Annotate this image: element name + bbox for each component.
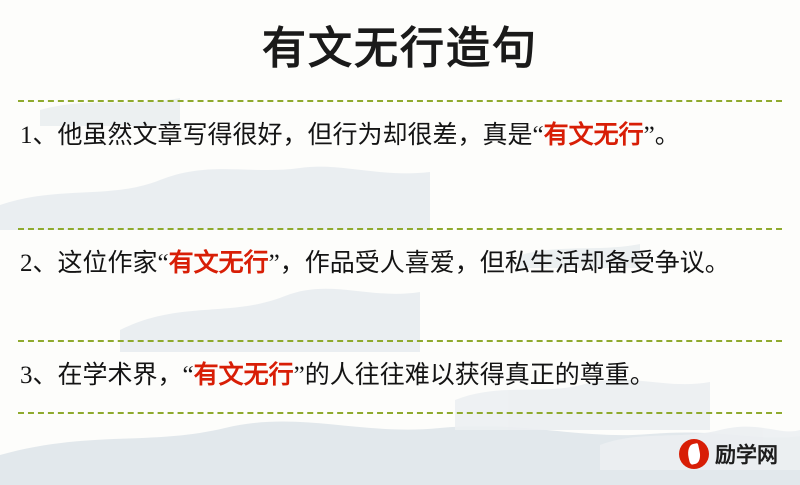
keyword-highlight: 有文无行 (544, 122, 644, 149)
divider-1 (18, 228, 782, 230)
sentence-index: 2、 (20, 250, 58, 277)
sentence-text: 他虽然文章写得很好，但行为却很差，真是“ (58, 122, 544, 149)
sentence-item: 3、在学术界，“有文无行”的人往往难以获得真正的尊重。 (20, 355, 782, 397)
sentence-text: 在学术界，“ (58, 362, 194, 389)
divider-top (18, 100, 782, 102)
sentence-text-tail: ”。 (644, 122, 680, 149)
keyword-highlight: 有文无行 (169, 250, 269, 277)
divider-2 (18, 340, 782, 342)
flame-logo-icon (679, 439, 709, 469)
keyword-highlight: 有文无行 (194, 362, 294, 389)
sentence-index: 3、 (20, 362, 58, 389)
watermark-label: 励学网 (715, 439, 778, 469)
sentence-index: 1、 (20, 122, 58, 149)
sentence-item: 2、这位作家“有文无行”，作品受人喜爱，但私生活却备受争议。 (20, 243, 782, 285)
sentence-item: 1、他虽然文章写得很好，但行为却很差，真是“有文无行”。 (20, 115, 782, 157)
page-title: 有文无行造句 (0, 12, 800, 76)
document-page: 有文无行造句 1、他虽然文章写得很好，但行为却很差，真是“有文无行”。 2、这位… (0, 0, 800, 485)
sentence-text-tail: ”的人往往难以获得真正的尊重。 (294, 362, 655, 389)
sentence-text: 这位作家“ (58, 250, 169, 277)
sentence-text-tail: ”，作品受人喜爱，但私生活却备受争议。 (269, 250, 730, 277)
divider-bottom (18, 412, 782, 414)
watermark-logo: 励学网 (679, 439, 778, 469)
